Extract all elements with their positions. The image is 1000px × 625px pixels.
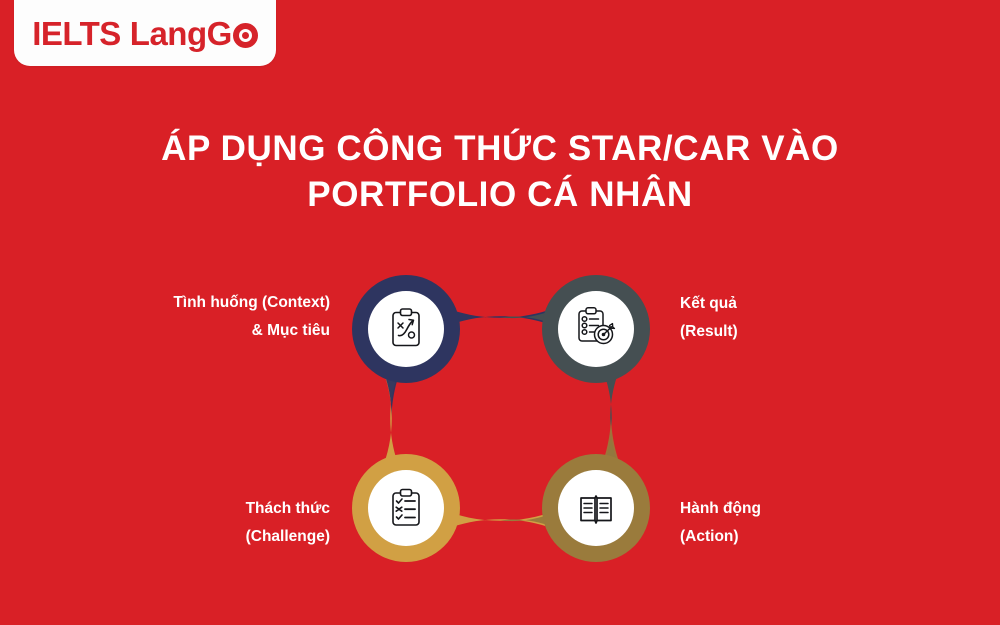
diagram-node-action[interactable] [542, 454, 650, 562]
diagram-label-challenge: Thách thức (Challenge) [0, 495, 330, 551]
target-o-icon [233, 23, 258, 48]
diagram-node-context[interactable] [352, 275, 460, 383]
brand-logo-g: G [207, 17, 232, 50]
diagram-node-challenge[interactable] [352, 454, 460, 562]
diagram-label-result: Kết quả (Result) [680, 290, 738, 346]
infographic-canvas: IELTS Lang G ÁP DỤNG CÔNG THỨC STAR/CAR … [0, 0, 1000, 625]
diagram-label-action-line-2: (Action) [680, 523, 761, 551]
diagram-label-challenge-line-2: (Challenge) [0, 523, 330, 551]
diagram-label-context: Tình huống (Context) & Mục tiêu [0, 289, 330, 345]
diagram-label-challenge-line-1: Thách thức [0, 495, 330, 523]
brand-logo[interactable]: IELTS Lang G [14, 0, 276, 66]
brand-logo-text: IELTS Lang G [32, 17, 258, 50]
diagram-label-result-line-2: (Result) [680, 318, 738, 346]
brand-logo-ielts: IELTS [32, 17, 121, 50]
diagram-node-result[interactable] [542, 275, 650, 383]
diagram-label-result-line-1: Kết quả [680, 290, 738, 318]
page-title-line-2: PORTFOLIO CÁ NHÂN [0, 172, 1000, 218]
diagram-label-action-line-1: Hành động [680, 495, 761, 523]
diagram-label-context-line-2: & Mục tiêu [0, 317, 330, 345]
diagram-label-action: Hành động (Action) [680, 495, 761, 551]
star-car-cycle-diagram [340, 266, 662, 571]
page-title: ÁP DỤNG CÔNG THỨC STAR/CAR VÀO PORTFOLIO… [0, 126, 1000, 217]
diagram-label-context-line-1: Tình huống (Context) [0, 289, 330, 317]
page-title-line-1: ÁP DỤNG CÔNG THỨC STAR/CAR VÀO [0, 126, 1000, 172]
brand-logo-lang: Lang [130, 17, 207, 50]
